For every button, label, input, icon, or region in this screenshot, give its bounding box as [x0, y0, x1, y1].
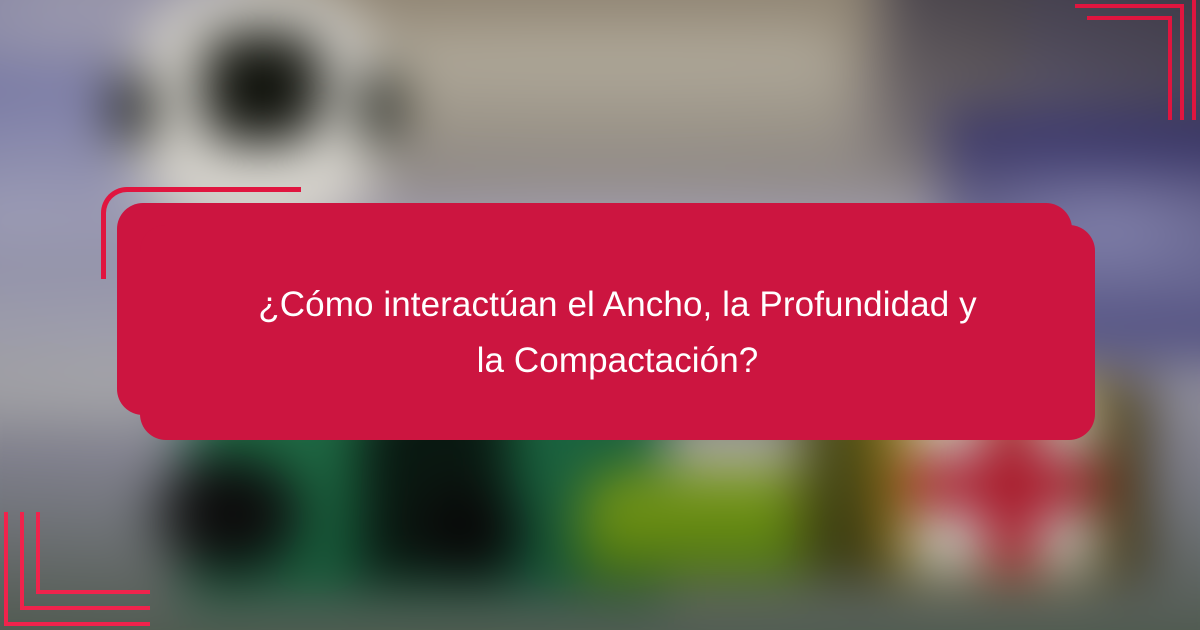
- title-card: ¿Cómo interactúan el Ancho, la Profundid…: [140, 225, 1095, 440]
- share-card-canvas: ¿Cómo interactúan el Ancho, la Profundid…: [0, 0, 1200, 630]
- page-title: ¿Cómo interactúan el Ancho, la Profundid…: [203, 277, 1033, 389]
